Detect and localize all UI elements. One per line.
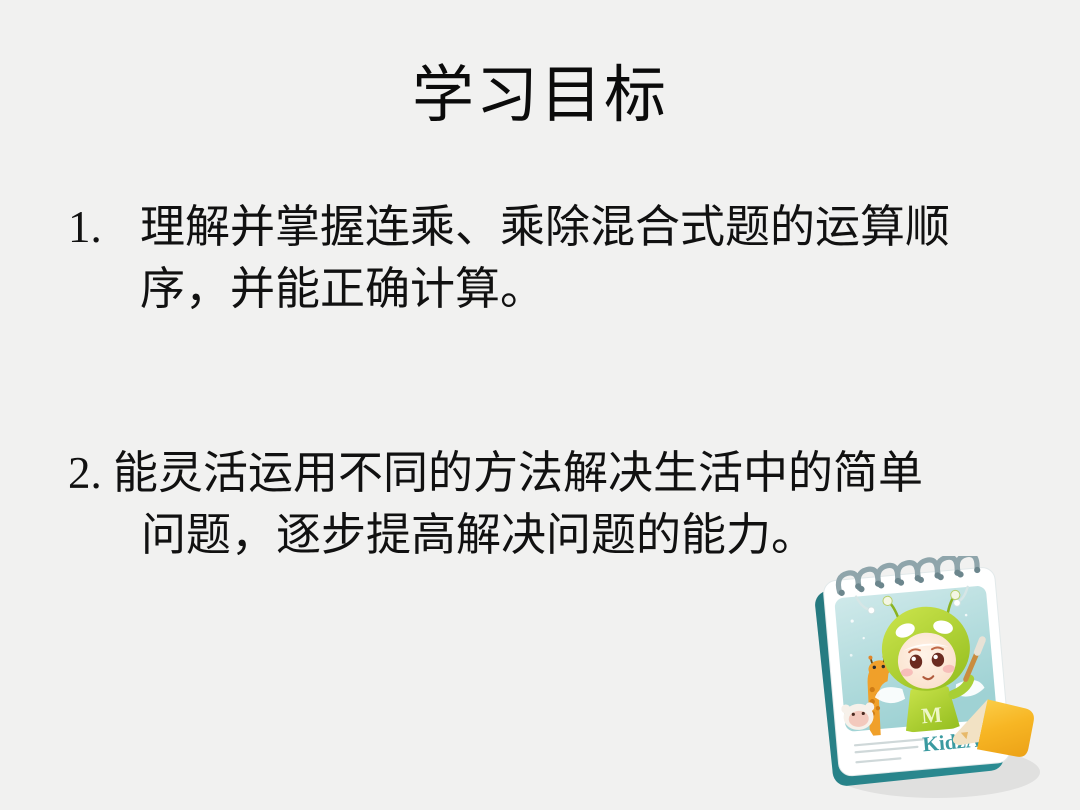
kidzart-notepad-image: M — [806, 556, 1074, 810]
list-item-line: 理解并掌握连乘、乘除混合式题的运算顺 — [140, 196, 1018, 258]
objectives-list: 1. 理解并掌握连乘、乘除混合式题的运算顺 序，并能正确计算。 2. 能灵活运用… — [58, 196, 1018, 566]
list-item-line: 序，并能正确计算。 — [140, 258, 1018, 320]
slide-canvas: 学习目标 1. 理解并掌握连乘、乘除混合式题的运算顺 序，并能正确计算。 2. … — [0, 0, 1080, 810]
list-item-marker: 2. — [68, 442, 102, 504]
list-item: 2. 能灵活运用不同的方法解决生活中的简单 问题，逐步提高解决问题的能力。 — [58, 442, 1018, 566]
list-item-text: 能灵活运用不同的方法解决生活中的简单 问题，逐步提高解决问题的能力。 — [58, 442, 1018, 566]
list-item-line: 能灵活运用不同的方法解决生活中的简单 — [113, 442, 1018, 504]
list-item-marker: 1. — [68, 196, 102, 258]
list-item: 1. 理解并掌握连乘、乘除混合式题的运算顺 序，并能正确计算。 — [58, 196, 1018, 320]
list-item-text: 理解并掌握连乘、乘除混合式题的运算顺 序，并能正确计算。 — [58, 196, 1018, 320]
character-letter: M — [920, 702, 943, 729]
page-title: 学习目标 — [0, 64, 1080, 129]
